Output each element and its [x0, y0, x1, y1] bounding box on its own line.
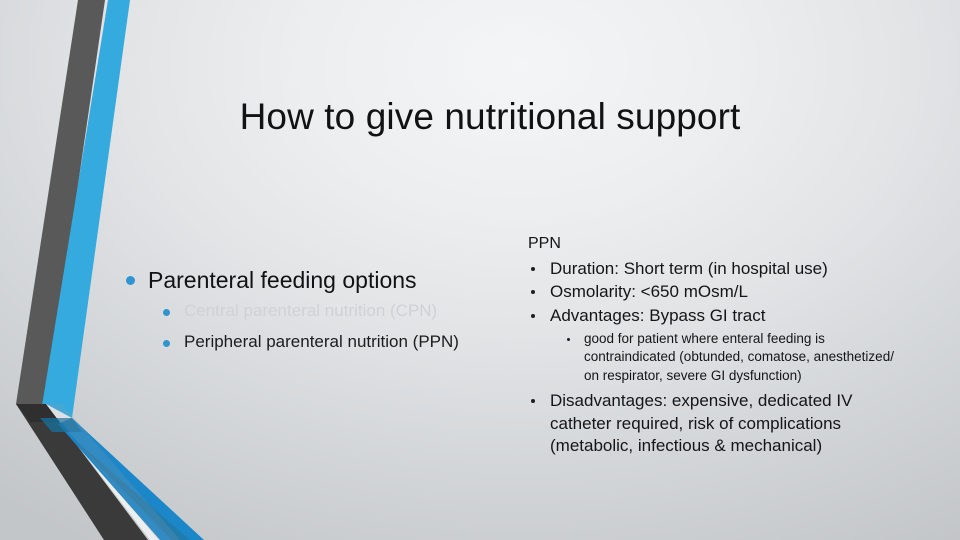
list-item: Central parenteral nutrition (CPN) — [118, 300, 488, 322]
list-item: Osmolarity: <650 mOsm/L — [528, 281, 903, 304]
list-item-label: Disadvantages: expensive, dedicated IV c… — [550, 391, 852, 455]
stripe-blue-lower — [58, 418, 204, 540]
left-content-placeholder: Parenteral feeding options Central paren… — [118, 266, 488, 363]
stripe-gray-lower — [16, 404, 148, 540]
list-item: Duration: Short term (in hospital use) — [528, 258, 903, 281]
slide-title: How to give nutritional support — [150, 96, 830, 139]
right-content-placeholder: PPN Duration: Short term (in hospital us… — [528, 234, 903, 459]
bullet-marker-icon — [531, 314, 535, 318]
list-item: Peripheral parenteral nutrition (PPN) — [118, 331, 488, 353]
list-item-label: Advantages: Bypass GI tract — [550, 306, 765, 325]
slide-canvas: How to give nutritional support Parenter… — [0, 0, 960, 540]
list-item: Parenteral feeding options — [118, 266, 488, 294]
stripe-gap-highlight — [46, 404, 200, 540]
list-item-label: good for patient where enteral feeding i… — [584, 331, 894, 383]
list-item-label: Parenteral feeding options — [148, 267, 417, 293]
list-item-label: Duration: Short term (in hospital use) — [550, 259, 828, 278]
bullet-marker-icon — [126, 276, 135, 285]
list-item: Disadvantages: expensive, dedicated IV c… — [528, 390, 903, 458]
list-item-label: Osmolarity: <650 mOsm/L — [550, 282, 748, 301]
bullet-marker-icon — [531, 399, 535, 403]
bullet-marker-icon — [163, 340, 170, 347]
bullet-marker-icon — [531, 290, 535, 294]
list-item: Advantages: Bypass GI tract — [528, 305, 903, 328]
bullet-marker-icon — [163, 309, 170, 316]
stripe-blue-upper — [40, 0, 130, 418]
stripe-blue-edge — [58, 424, 190, 540]
bullet-marker-icon — [531, 267, 535, 271]
stripe-gray-bevel — [16, 404, 60, 422]
stripe-shadow — [46, 404, 180, 540]
list-item: good for patient where enteral feeding i… — [528, 330, 903, 385]
list-item-label: Peripheral parenteral nutrition (PPN) — [184, 332, 459, 351]
stripe-blue-bevel — [40, 418, 82, 432]
bullet-marker-icon — [567, 338, 570, 341]
stripe-gray-upper — [16, 0, 105, 404]
right-column-heading: PPN — [528, 234, 903, 255]
list-item-label: Central parenteral nutrition (CPN) — [184, 301, 437, 320]
